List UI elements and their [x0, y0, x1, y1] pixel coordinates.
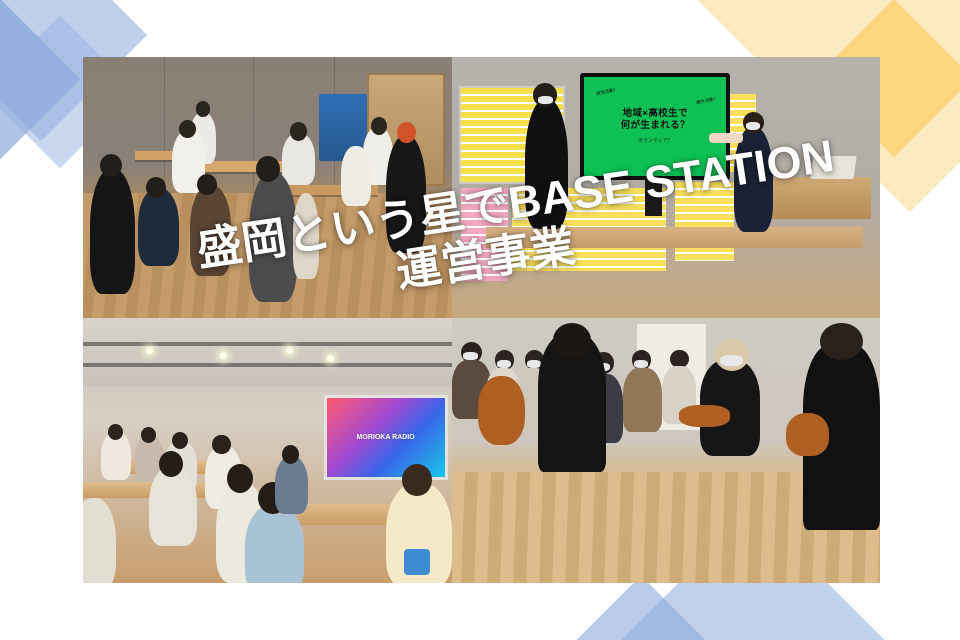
presentation-display: 探究活動？ 課外活動？ 地域×高校生で 何が生まれる？ ボランティア？ [580, 73, 730, 180]
photo-collage: 探究活動？ 課外活動？ 地域×高校生で 何が生まれる？ ボランティア？ [83, 57, 880, 583]
screen-headline-line2: 何が生まれる？ [621, 120, 690, 132]
sticky-note-wall-right [675, 182, 735, 260]
slide-canvas: 探究活動？ 課外活動？ 地域×高校生で 何が生まれる？ ボランティア？ [0, 0, 960, 640]
diamond-bottom-right-2 [558, 576, 725, 640]
photo-string-concert [452, 318, 880, 583]
screen-subtext: ボランティア？ [638, 137, 673, 144]
photo-seminar-room: MORIOKA RADIO [83, 318, 452, 583]
projector-screen-text: MORIOKA RADIO [357, 433, 415, 442]
tshirt-logo-icon [404, 549, 430, 575]
photo-presentation-green-screen: 探究活動？ 課外活動？ 地域×高校生で 何が生まれる？ ボランティア？ [452, 57, 880, 318]
screen-tag-right: 課外活動？ [695, 96, 718, 106]
photo-workshop-tables [83, 57, 452, 318]
presentation-screen: 探究活動？ 課外活動？ 地域×高校生で 何が生まれる？ ボランティア？ [584, 77, 726, 176]
diamond-top-left-2 [0, 0, 80, 162]
screen-headline-line1: 地域×高校生で [623, 108, 688, 120]
screen-tag-left: 探究活動？ [595, 86, 618, 96]
projector-screen: MORIOKA RADIO [327, 398, 445, 478]
